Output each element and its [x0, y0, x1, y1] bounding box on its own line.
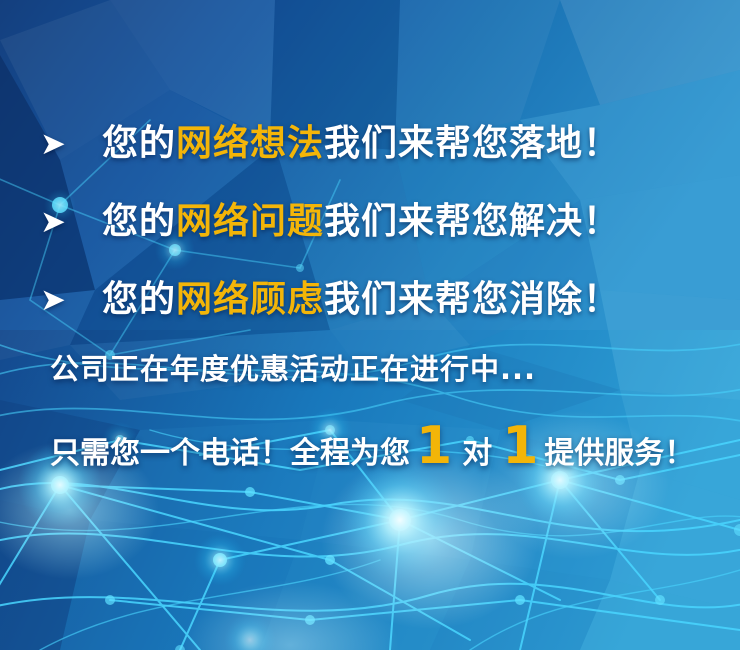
headline-2-highlight: 网络问题	[176, 201, 324, 242]
headline-text-2: 您的网络问题我们来帮您解决！	[102, 204, 620, 240]
headline-2-suffix: 我们来帮您解决！	[324, 201, 620, 242]
arrow-bullet-icon: ➤	[40, 285, 102, 316]
headline-row-3: ➤ 您的网络顾虑我们来帮您消除！	[0, 261, 740, 339]
headline-3-prefix: 您的	[102, 279, 176, 320]
service-text-part1: 只需您一个电话！全程为您	[50, 439, 410, 469]
headline-1-highlight: 网络想法	[176, 123, 324, 164]
arrow-bullet-icon: ➤	[40, 207, 102, 238]
service-text-part2: 提供服务！	[544, 439, 694, 469]
headline-1-prefix: 您的	[102, 123, 176, 164]
headline-text-1: 您的网络想法我们来帮您落地！	[102, 126, 620, 162]
headline-2-prefix: 您的	[102, 201, 176, 242]
service-number-first: 1	[410, 426, 458, 468]
headline-3-highlight: 网络顾虑	[176, 279, 324, 320]
banner-content: ➤ 您的网络想法我们来帮您落地！ ➤ 您的网络问题我们来帮您解决！ ➤ 您的网络…	[0, 0, 740, 650]
headline-row-1: ➤ 您的网络想法我们来帮您落地！	[0, 105, 740, 183]
promo-banner: ➤ 您的网络想法我们来帮您落地！ ➤ 您的网络问题我们来帮您解决！ ➤ 您的网络…	[0, 0, 740, 650]
headline-list: ➤ 您的网络想法我们来帮您落地！ ➤ 您的网络问题我们来帮您解决！ ➤ 您的网络…	[0, 105, 740, 339]
promo-activity-text: 公司正在年度优惠活动正在进行中...	[50, 355, 740, 384]
headline-row-2: ➤ 您的网络问题我们来帮您解决！	[0, 183, 740, 261]
arrow-bullet-icon: ➤	[40, 129, 102, 160]
headline-1-suffix: 我们来帮您落地！	[324, 123, 620, 164]
headline-text-3: 您的网络顾虑我们来帮您消除！	[102, 282, 620, 318]
service-number-second: 1	[496, 426, 544, 468]
subtext-block: 公司正在年度优惠活动正在进行中... 只需您一个电话！全程为您 1 对 1 提供…	[0, 355, 740, 469]
promo-service-text: 只需您一个电话！全程为您 1 对 1 提供服务！	[50, 426, 740, 469]
headline-3-suffix: 我们来帮您消除！	[324, 279, 620, 320]
service-text-middle: 对	[458, 439, 496, 469]
